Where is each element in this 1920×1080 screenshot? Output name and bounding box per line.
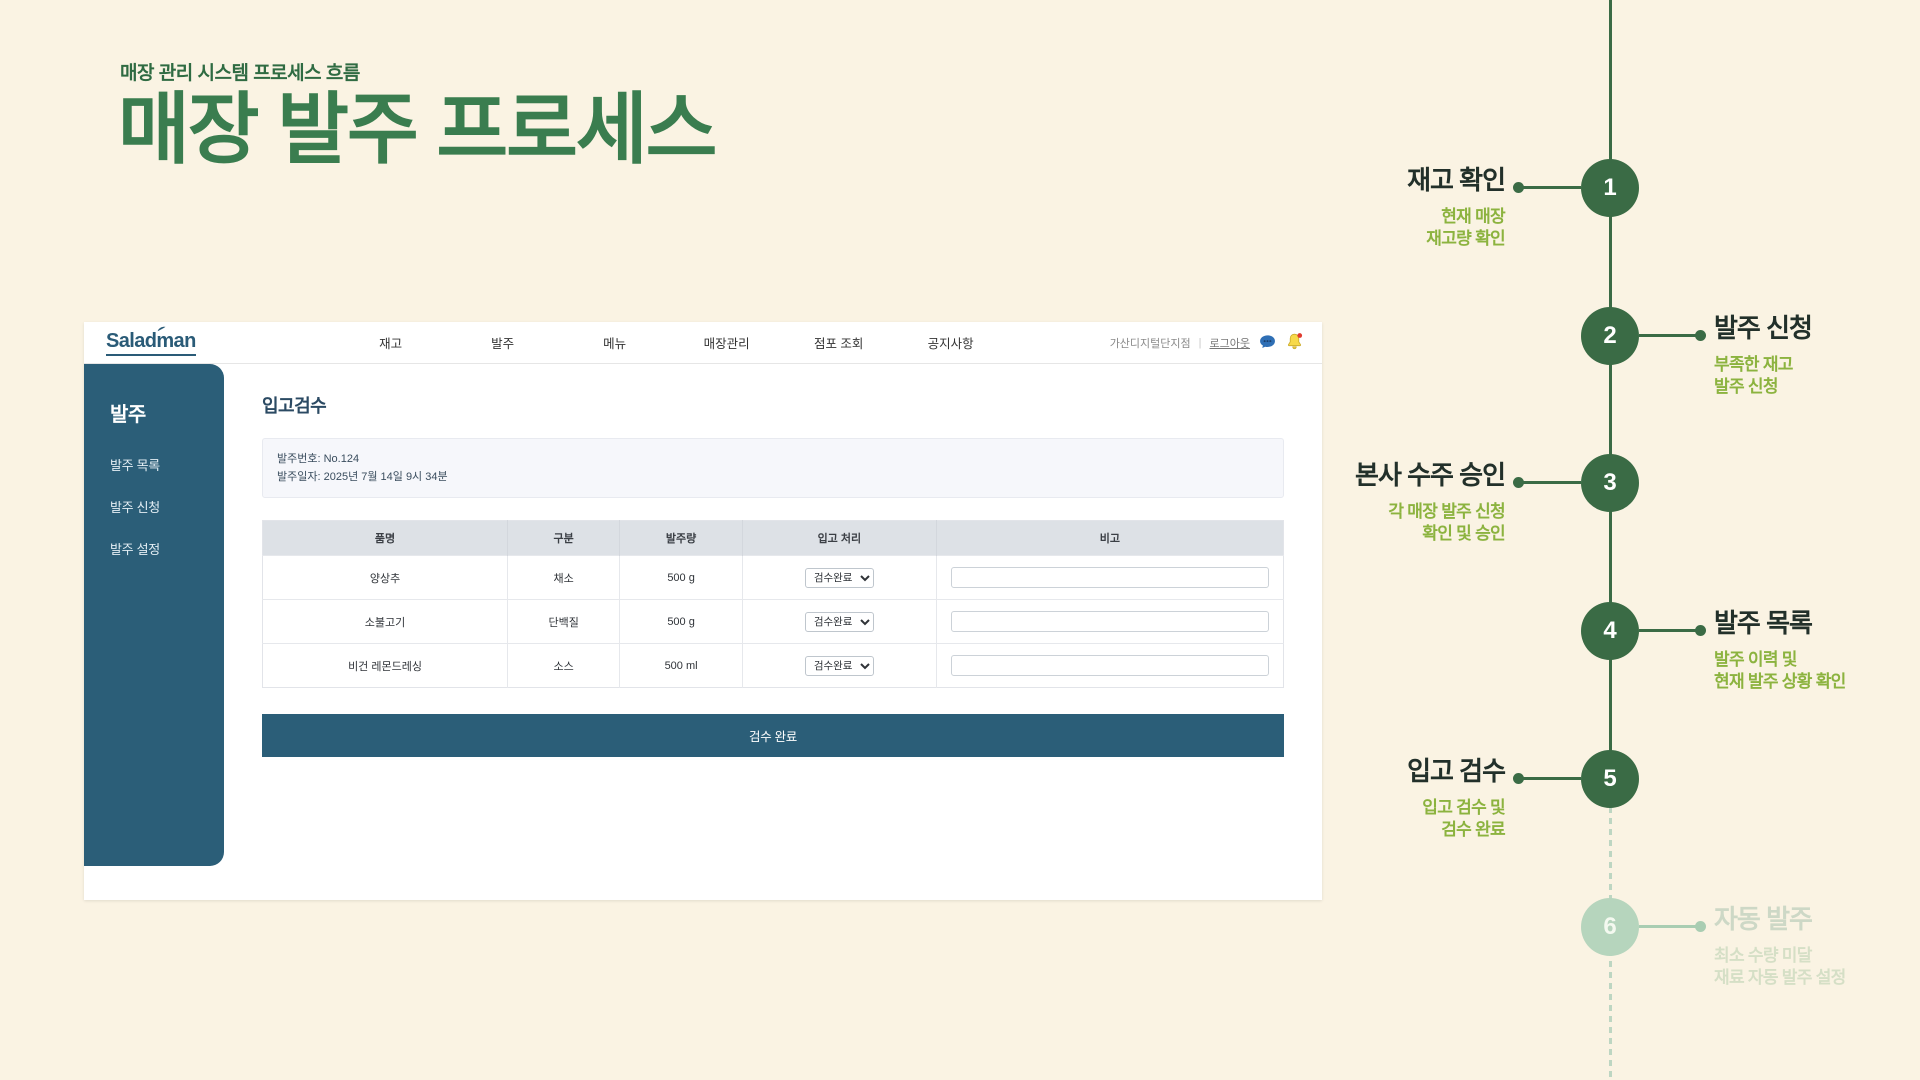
sidebar-item-order-request[interactable]: 발주 신청 (110, 497, 224, 516)
table-body: 양상추 채소 500 g 검수완료 소불고기 (263, 556, 1284, 688)
step-connector (1639, 629, 1697, 632)
step-title: 발주 목록 (1714, 609, 1920, 638)
nav-links: 재고 발주 메뉴 매장관리 점포 조회 공지사항 (232, 333, 1110, 352)
sidebar-item-order-settings[interactable]: 발주 설정 (110, 539, 224, 558)
step-description: 입고 검수 및검수 완료 (1175, 797, 1505, 841)
nav-link-store-management[interactable]: 매장관리 (671, 333, 783, 352)
cell-note (936, 556, 1283, 600)
step-text: 재고 확인 현재 매장재고량 확인 (1175, 166, 1505, 250)
step-connector (1639, 334, 1697, 337)
step-text: 자동 발주 최소 수량 미달재료 자동 발주 설정 (1714, 905, 1920, 989)
cell-name: 소불고기 (263, 600, 508, 644)
step-number-badge: 1 (1581, 159, 1639, 217)
cell-type: 단백질 (508, 600, 620, 644)
step-text: 본사 수주 승인 각 매장 발주 신청확인 및 승인 (1175, 461, 1505, 545)
step-title: 입고 검수 (1175, 757, 1505, 786)
table-head: 품명 구분 발주량 입고 처리 비고 (263, 521, 1284, 556)
nav-link-orders[interactable]: 발주 (447, 333, 559, 352)
chat-bubble-icon[interactable] (1258, 333, 1277, 352)
receive-status-select[interactable]: 검수완료 (805, 656, 874, 676)
brand-label: Saladman (106, 330, 196, 352)
col-header-receive: 입고 처리 (742, 521, 936, 556)
nav-link-store-lookup[interactable]: 점포 조회 (783, 333, 895, 352)
nav-link-menu[interactable]: 메뉴 (559, 333, 671, 352)
cell-qty: 500 g (620, 600, 743, 644)
leaf-sprout-icon (157, 326, 166, 333)
order-date: 발주일자: 2025년 7월 14일 9시 34분 (277, 468, 1269, 486)
poster-heading: 매장 관리 시스템 프로세스 흐름 매장 발주 프로세스 (118, 58, 715, 167)
receive-status-select[interactable]: 검수완료 (805, 612, 874, 632)
note-input[interactable] (951, 611, 1269, 632)
process-timeline: 1 재고 확인 현재 매장재고량 확인 2 발주 신청 부족한 재고발주 신청 … (1380, 0, 1920, 1080)
page-title: 매장 발주 프로세스 (118, 91, 715, 167)
app-main-content: 입고검수 발주번호: No.124 발주일자: 2025년 7월 14일 9시 … (224, 364, 1322, 900)
step-description: 최소 수량 미달재료 자동 발주 설정 (1714, 945, 1920, 989)
cell-type: 채소 (508, 556, 620, 600)
step-number-badge: 3 (1581, 454, 1639, 512)
nav-link-notices[interactable]: 공지사항 (895, 333, 1007, 352)
step-title: 자동 발주 (1714, 905, 1920, 934)
step-connector (1523, 481, 1581, 484)
content-page-title: 입고검수 (262, 392, 1284, 418)
receive-status-select[interactable]: 검수완료 (805, 568, 874, 588)
note-input[interactable] (951, 655, 1269, 676)
brand-logo[interactable]: Saladman (106, 330, 196, 356)
step-description: 부족한 재고발주 신청 (1714, 354, 1920, 398)
table-header-row: 품명 구분 발주량 입고 처리 비고 (263, 521, 1284, 556)
cell-qty: 500 g (620, 556, 743, 600)
step-title: 재고 확인 (1175, 166, 1505, 195)
step-connector (1523, 777, 1581, 780)
sidebar-title: 발주 (110, 398, 224, 427)
logout-link[interactable]: 로그아웃 (1210, 335, 1250, 351)
step-number-badge: 2 (1581, 307, 1639, 365)
step-title: 본사 수주 승인 (1175, 461, 1505, 490)
cell-receive: 검수완료 (742, 600, 936, 644)
cell-note (936, 600, 1283, 644)
step-text: 발주 목록 발주 이력 및현재 발주 상황 확인 (1714, 609, 1920, 693)
nav-link-inventory[interactable]: 재고 (335, 333, 447, 352)
nav-user-area: 가산디지털단지점 | 로그아웃 (1110, 332, 1304, 353)
poster-kicker: 매장 관리 시스템 프로세스 흐름 (120, 58, 715, 85)
step-description: 발주 이력 및현재 발주 상황 확인 (1714, 649, 1920, 693)
app-body: 발주 발주 목록 발주 신청 발주 설정 입고검수 발주번호: No.124 발… (84, 364, 1322, 900)
cell-receive: 검수완료 (742, 556, 936, 600)
sidebar-item-order-list[interactable]: 발주 목록 (110, 455, 224, 474)
step-description: 각 매장 발주 신청확인 및 승인 (1175, 501, 1505, 545)
step-dot (1513, 477, 1524, 488)
col-header-type: 구분 (508, 521, 620, 556)
col-header-qty: 발주량 (620, 521, 743, 556)
step-connector (1639, 925, 1697, 928)
cell-name: 비건 레몬드레싱 (263, 644, 508, 688)
order-number: 발주번호: No.124 (277, 450, 1269, 468)
step-description: 현재 매장재고량 확인 (1175, 206, 1505, 250)
cell-qty: 500 ml (620, 644, 743, 688)
step-dot (1695, 921, 1706, 932)
cell-name: 양상추 (263, 556, 508, 600)
step-number-badge: 4 (1581, 602, 1639, 660)
step-connector (1523, 186, 1581, 189)
col-header-name: 품명 (263, 521, 508, 556)
note-input[interactable] (951, 567, 1269, 588)
step-number-badge: 5 (1581, 750, 1639, 808)
nav-separator: | (1199, 337, 1202, 349)
step-number-badge: 6 (1581, 898, 1639, 956)
inspection-complete-button[interactable]: 검수 완료 (262, 714, 1284, 757)
cell-note (936, 644, 1283, 688)
timeline-spine-solid (1609, 0, 1612, 785)
table-row: 소불고기 단백질 500 g 검수완료 (263, 600, 1284, 644)
table-row: 비건 레몬드레싱 소스 500 ml 검수완료 (263, 644, 1284, 688)
step-dot (1513, 773, 1524, 784)
app-window-screenshot: Saladman 재고 발주 메뉴 매장관리 점포 조회 공지사항 가산디지털단… (84, 322, 1322, 900)
cell-type: 소스 (508, 644, 620, 688)
step-text: 입고 검수 입고 검수 및검수 완료 (1175, 757, 1505, 841)
inspection-table: 품명 구분 발주량 입고 처리 비고 양상추 채소 500 g (262, 520, 1284, 688)
table-row: 양상추 채소 500 g 검수완료 (263, 556, 1284, 600)
step-dot (1695, 330, 1706, 341)
order-meta-panel: 발주번호: No.124 발주일자: 2025년 7월 14일 9시 34분 (262, 438, 1284, 498)
app-sidebar: 발주 발주 목록 발주 신청 발주 설정 (84, 364, 224, 866)
current-store-label: 가산디지털단지점 (1110, 335, 1191, 351)
step-title: 발주 신청 (1714, 314, 1920, 343)
step-dot (1695, 625, 1706, 636)
step-dot (1513, 182, 1524, 193)
cell-receive: 검수완료 (742, 644, 936, 688)
step-text: 발주 신청 부족한 재고발주 신청 (1714, 314, 1920, 398)
bell-notification-icon[interactable] (1285, 332, 1304, 353)
app-top-nav: Saladman 재고 발주 메뉴 매장관리 점포 조회 공지사항 가산디지털단… (84, 322, 1322, 364)
